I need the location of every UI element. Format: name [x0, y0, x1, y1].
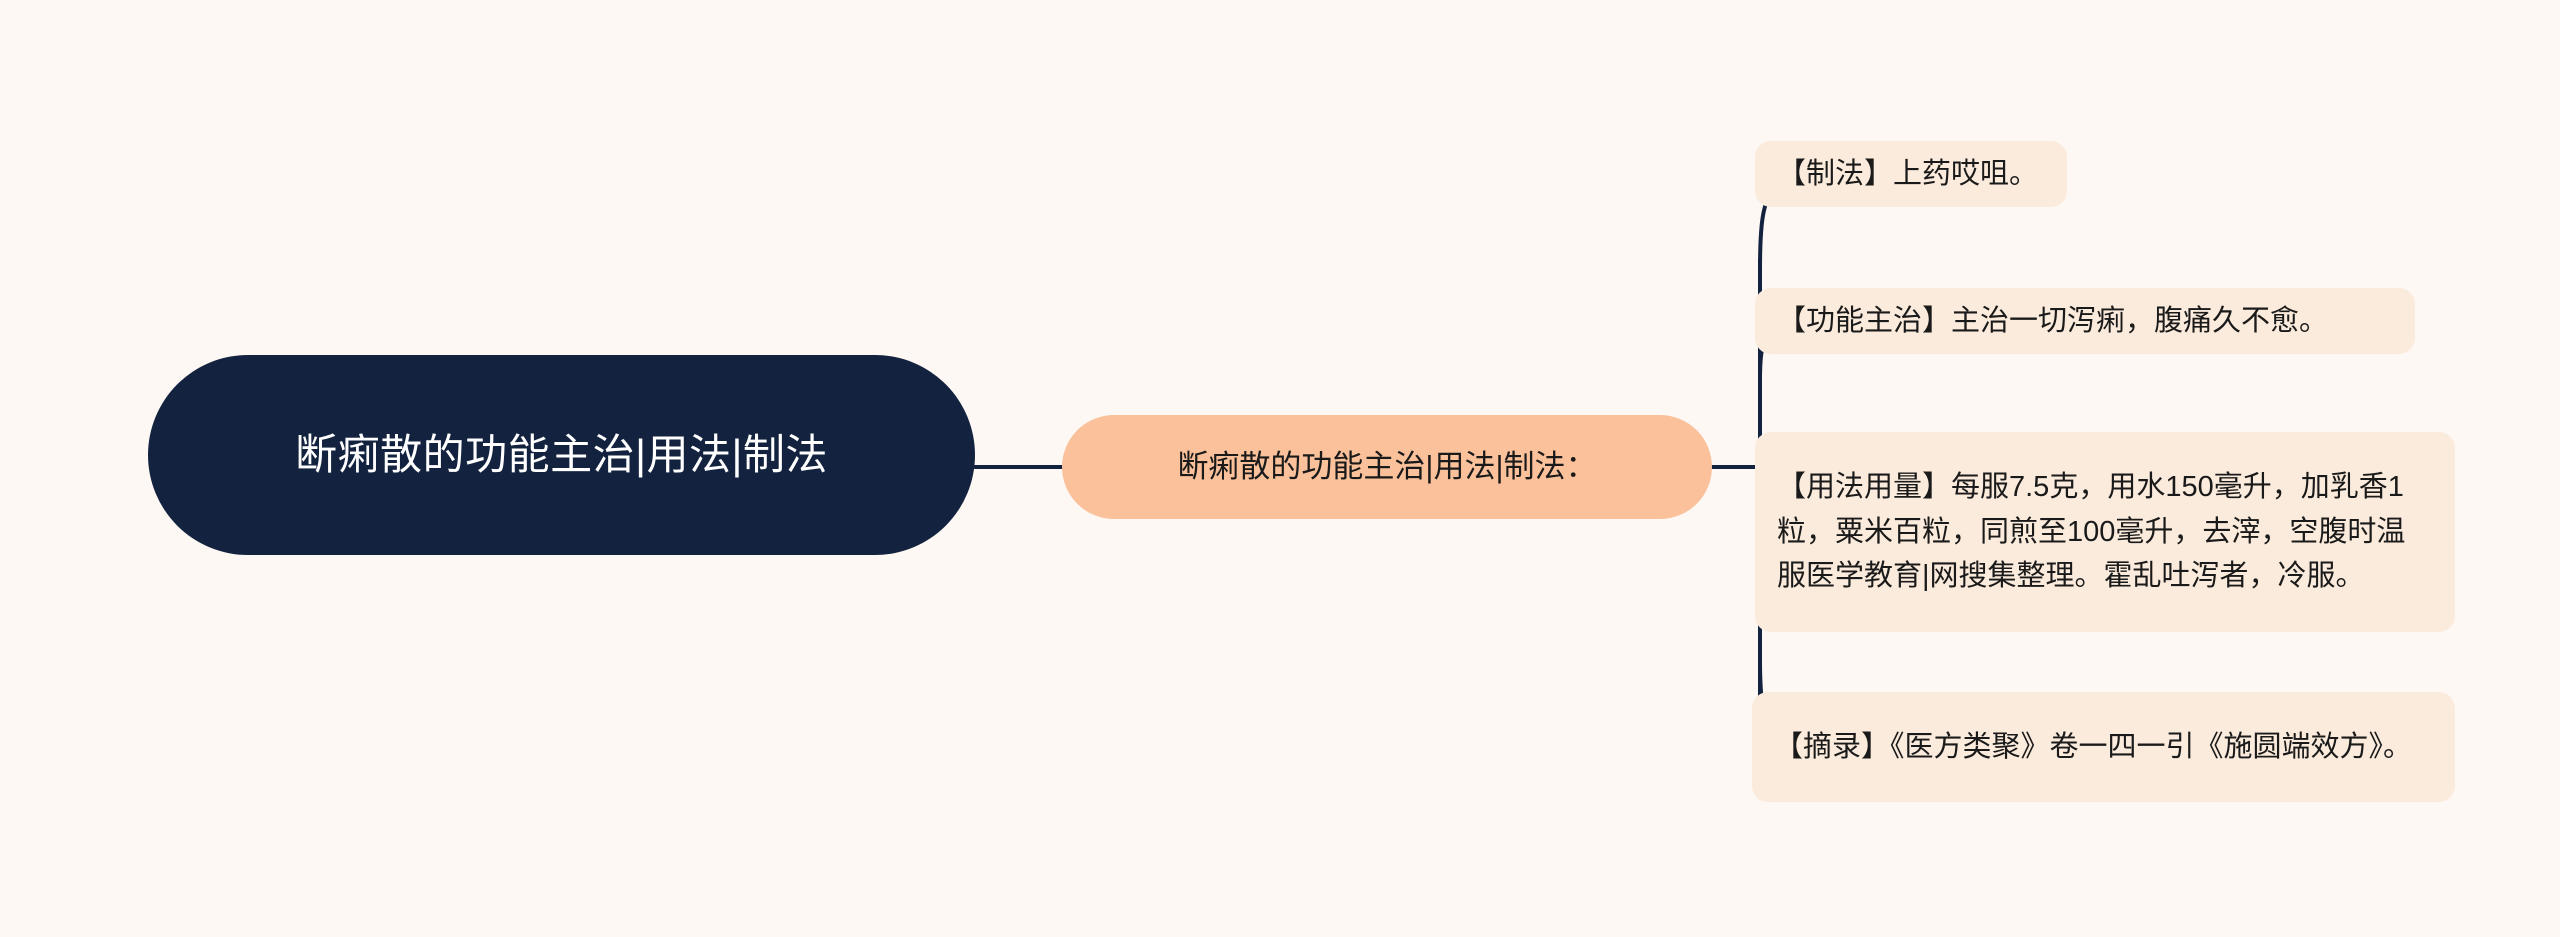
leaf-node-gongneng-zhuzhi[interactable]: 【功能主治】主治一切泻痢，腹痛久不愈。 — [1755, 288, 2415, 354]
root-node[interactable]: 断痢散的功能主治|用法|制法 — [148, 355, 975, 555]
leaf-node-zhailu[interactable]: 【摘录】《医方类聚》卷一四一引《施圆端效方》。 — [1752, 692, 2455, 802]
leaf-node-label: 【制法】上药哎咀。 — [1777, 152, 2045, 197]
topic-node[interactable]: 断痢散的功能主治|用法|制法： — [1062, 415, 1712, 519]
topic-node-label: 断痢散的功能主治|用法|制法： — [1177, 447, 1596, 487]
leaf-node-label: 【功能主治】主治一切泻痢，腹痛久不愈。 — [1777, 299, 2393, 344]
leaf-node-label: 【摘录】《医方类聚》卷一四一引《施圆端效方》。 — [1774, 725, 2433, 770]
mindmap-canvas: 断痢散的功能主治|用法|制法 断痢散的功能主治|用法|制法： 【制法】上药哎咀。… — [0, 0, 2560, 937]
leaf-node-label: 【用法用量】每服7.5克，用水150毫升，加乳香1粒，粟米百粒，同煎至100毫升… — [1777, 465, 2433, 600]
leaf-node-zhifa[interactable]: 【制法】上药哎咀。 — [1755, 141, 2067, 207]
leaf-node-yongfa-yongliang[interactable]: 【用法用量】每服7.5克，用水150毫升，加乳香1粒，粟米百粒，同煎至100毫升… — [1755, 432, 2455, 632]
root-node-label: 断痢散的功能主治|用法|制法 — [295, 427, 828, 482]
